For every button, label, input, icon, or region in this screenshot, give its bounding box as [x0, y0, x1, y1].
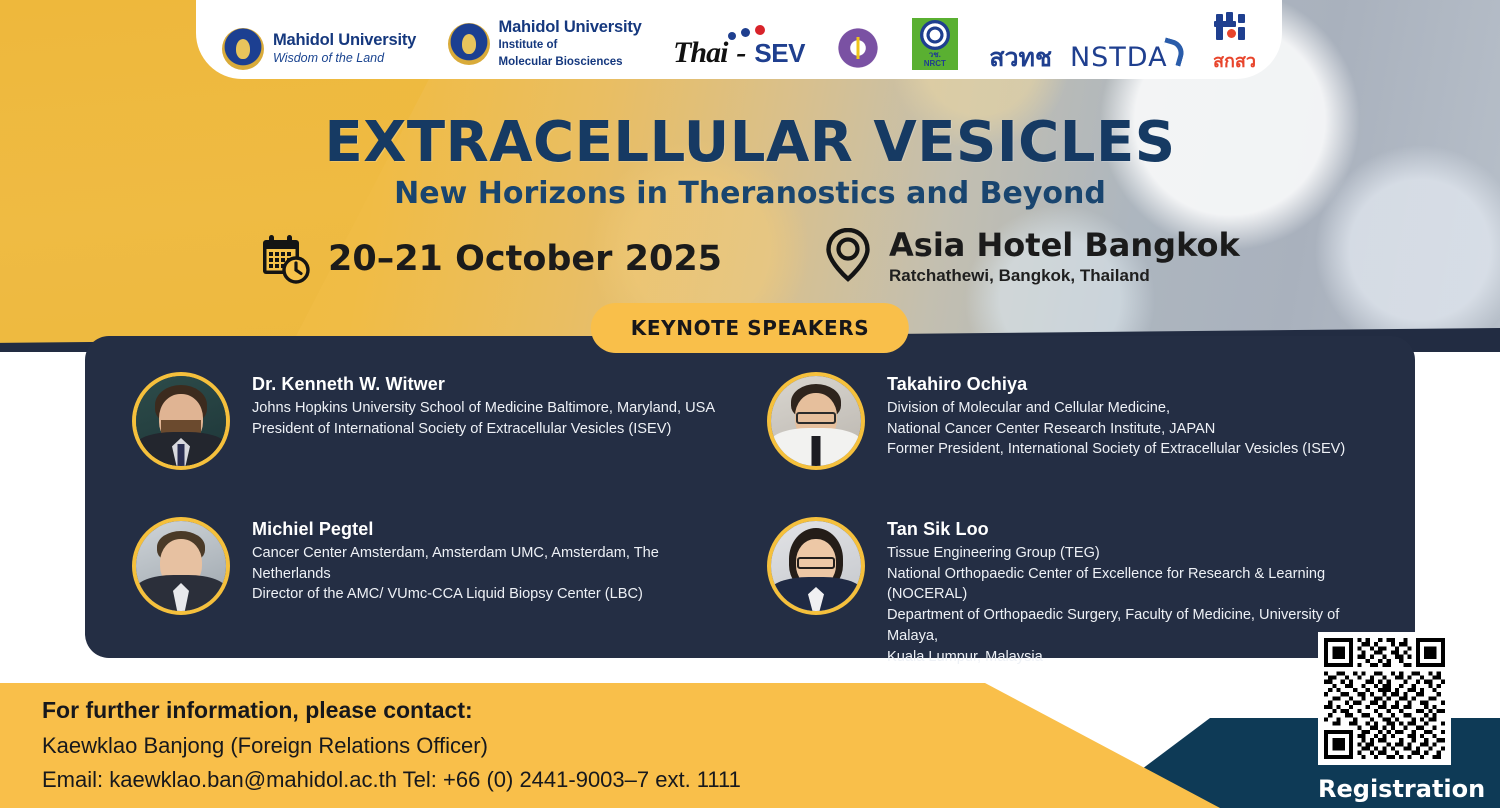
venue-name: Asia Hotel Bangkok: [889, 226, 1240, 264]
calendar-clock-icon: [260, 234, 312, 284]
keynote-speakers-panel: Dr. Kenneth W. Witwer Johns Hopkins Univ…: [85, 336, 1415, 658]
avatar: [132, 372, 230, 470]
logo-mahidol-imb: Mahidol University Institute of Molecula…: [448, 19, 642, 70]
logo-mahidol-university: Mahidol University Wisdom of the Land: [222, 28, 416, 70]
speaker-affiliation: Director of the AMC/ VUmc-CCA Liquid Bio…: [252, 584, 732, 605]
event-date-block: 20–21 October 2025: [260, 234, 722, 284]
logo-tsri: สกสว: [1213, 12, 1256, 70]
contact-details: Email: kaewklao.ban@mahidol.ac.th Tel: +…: [42, 767, 741, 793]
mahidol-seal-icon: [448, 23, 490, 65]
qr-code-icon[interactable]: [1318, 632, 1451, 765]
thai-sev-dots-icon: [725, 25, 771, 45]
speaker-name: Dr. Kenneth W. Witwer: [252, 374, 715, 395]
contact-block: For further information, please contact:…: [42, 697, 741, 793]
speaker-affiliation: Former President, International Society …: [887, 439, 1345, 460]
avatar: [132, 517, 230, 615]
contact-person: Kaewklao Banjong (Foreign Relations Offi…: [42, 733, 741, 759]
contact-heading: For further information, please contact:: [42, 697, 741, 724]
nrct-wheel-icon: [920, 20, 950, 50]
logo-sub-line-1: Institute of: [499, 39, 558, 51]
speaker-affiliation: Cancer Center Amsterdam, Amsterdam UMC, …: [252, 543, 732, 584]
venue-address: Ratchathewi, Bangkok, Thailand: [889, 266, 1240, 286]
sponsor-logo-bar: Mahidol University Wisdom of the Land Ma…: [196, 0, 1282, 79]
page-title: EXTRACELLULAR VESICLES: [0, 110, 1500, 175]
avatar: [767, 372, 865, 470]
conference-poster: Mahidol University Wisdom of the Land Ma…: [0, 0, 1500, 808]
event-venue-block: Asia Hotel Bangkok Ratchathewi, Bangkok,…: [825, 228, 1240, 286]
mahidol-seal-icon: [222, 28, 264, 70]
speaker-card: Tan Sik Loo Tissue Engineering Group (TE…: [767, 517, 1377, 667]
logo-chulabhorn: [836, 26, 880, 70]
speaker-card: Michiel Pegtel Cancer Center Amsterdam, …: [132, 517, 732, 615]
speaker-affiliation: National Cancer Center Research Institut…: [887, 419, 1345, 440]
speaker-affiliation: Johns Hopkins University School of Medic…: [252, 398, 715, 419]
speaker-affiliation: President of International Society of Ex…: [252, 419, 715, 440]
logo-nrct: วช. NRCT: [912, 18, 958, 70]
sakosow-mark-icon: [1214, 12, 1256, 42]
nrct-eng-label: NRCT: [924, 60, 946, 68]
speaker-affiliation: Department of Orthopaedic Surgery, Facul…: [887, 605, 1377, 646]
nstda-eng-label: NSTDA: [1070, 46, 1168, 70]
logo-nstda: สวทช NSTDA: [989, 46, 1181, 70]
logo-sub-line-2: Molecular Biosciences: [499, 56, 623, 68]
registration-block[interactable]: Registration: [1318, 632, 1485, 803]
purple-seal-icon: [836, 26, 880, 70]
logo-thai-sev: Thai - SEV: [673, 28, 805, 70]
avatar: [767, 517, 865, 615]
sakosow-label: สกสว: [1213, 52, 1256, 70]
logo-label: Mahidol University: [273, 31, 416, 49]
page-subtitle: New Horizons in Theranostics and Beyond: [0, 176, 1500, 211]
speaker-card: Takahiro Ochiya Division of Molecular an…: [767, 372, 1377, 470]
speaker-affiliation: Division of Molecular and Cellular Medic…: [887, 398, 1345, 419]
nrct-thai-label: วช.: [929, 51, 941, 59]
speaker-affiliation: Tissue Engineering Group (TEG): [887, 543, 1377, 564]
thai-sev-part1: Thai: [673, 36, 727, 70]
speaker-affiliation: Kuala Lumpur, Malaysia: [887, 647, 1377, 668]
keynote-speakers-badge: KEYNOTE SPEAKERS: [591, 303, 909, 353]
speaker-affiliation: National Orthopaedic Center of Excellenc…: [887, 564, 1377, 605]
logo-label: Mahidol University: [499, 18, 642, 36]
event-meta: 20–21 October 2025 Asia Hotel Bangkok Ra…: [0, 228, 1500, 306]
speaker-name: Tan Sik Loo: [887, 519, 1377, 540]
logo-tagline: Wisdom of the Land: [273, 51, 384, 65]
speaker-name: Takahiro Ochiya: [887, 374, 1345, 395]
speaker-name: Michiel Pegtel: [252, 519, 732, 540]
registration-label: Registration: [1318, 775, 1485, 803]
event-date: 20–21 October 2025: [328, 239, 722, 279]
speaker-card: Dr. Kenneth W. Witwer Johns Hopkins Univ…: [132, 372, 732, 470]
location-pin-icon: [825, 228, 871, 282]
nstda-thai-label: สวทช: [989, 47, 1052, 70]
